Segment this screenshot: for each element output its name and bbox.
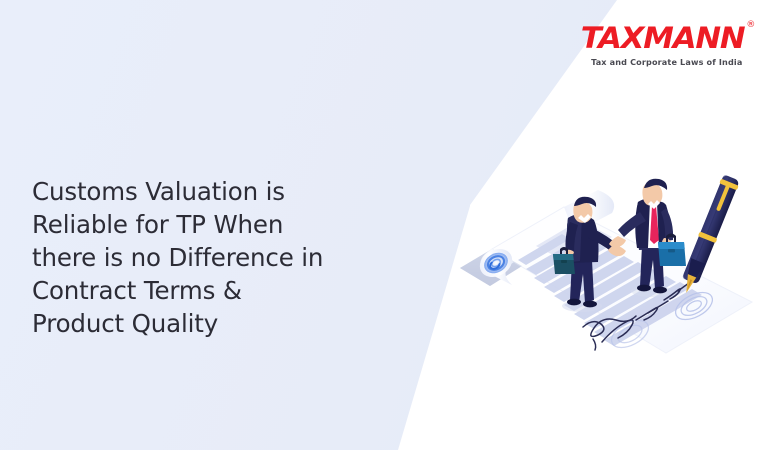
headline-line-4: Contract Terms & bbox=[32, 276, 242, 305]
fountain-pen bbox=[677, 174, 741, 296]
briefcase-right-top bbox=[658, 242, 685, 249]
briefcase-right-latch bbox=[668, 249, 675, 252]
briefcase-left-latch bbox=[561, 260, 567, 263]
headline-line-1: Customs Valuation is bbox=[32, 177, 285, 206]
right-figure-shoe-2 bbox=[653, 287, 667, 294]
headline-line-5: Product Quality bbox=[32, 309, 218, 338]
headline-line-3: there is no Difference in bbox=[32, 243, 323, 272]
right-figure-shoe-1 bbox=[637, 285, 651, 292]
page-title: Customs Valuation is Reliable for TP Whe… bbox=[32, 175, 392, 340]
left-figure-shoe-1 bbox=[567, 299, 581, 306]
logo-wordmark-text: TAXMANN bbox=[580, 21, 744, 55]
logo-tagline: Tax and Corporate Laws of India bbox=[590, 58, 744, 66]
logo-wordmark: TAXMANN ® bbox=[580, 24, 744, 53]
contract-signing-handshake-illustration bbox=[452, 150, 762, 365]
left-figure-shoe-2 bbox=[583, 301, 597, 308]
briefcase-left-top bbox=[553, 254, 574, 260]
taxmann-logo[interactable]: TAXMANN ® Tax and Corporate Laws of Indi… bbox=[590, 24, 744, 66]
registered-trademark-icon: ® bbox=[746, 21, 755, 30]
headline-line-2: Reliable for TP When bbox=[32, 210, 283, 239]
promotional-banner: TAXMANN ® Tax and Corporate Laws of Indi… bbox=[0, 0, 768, 450]
